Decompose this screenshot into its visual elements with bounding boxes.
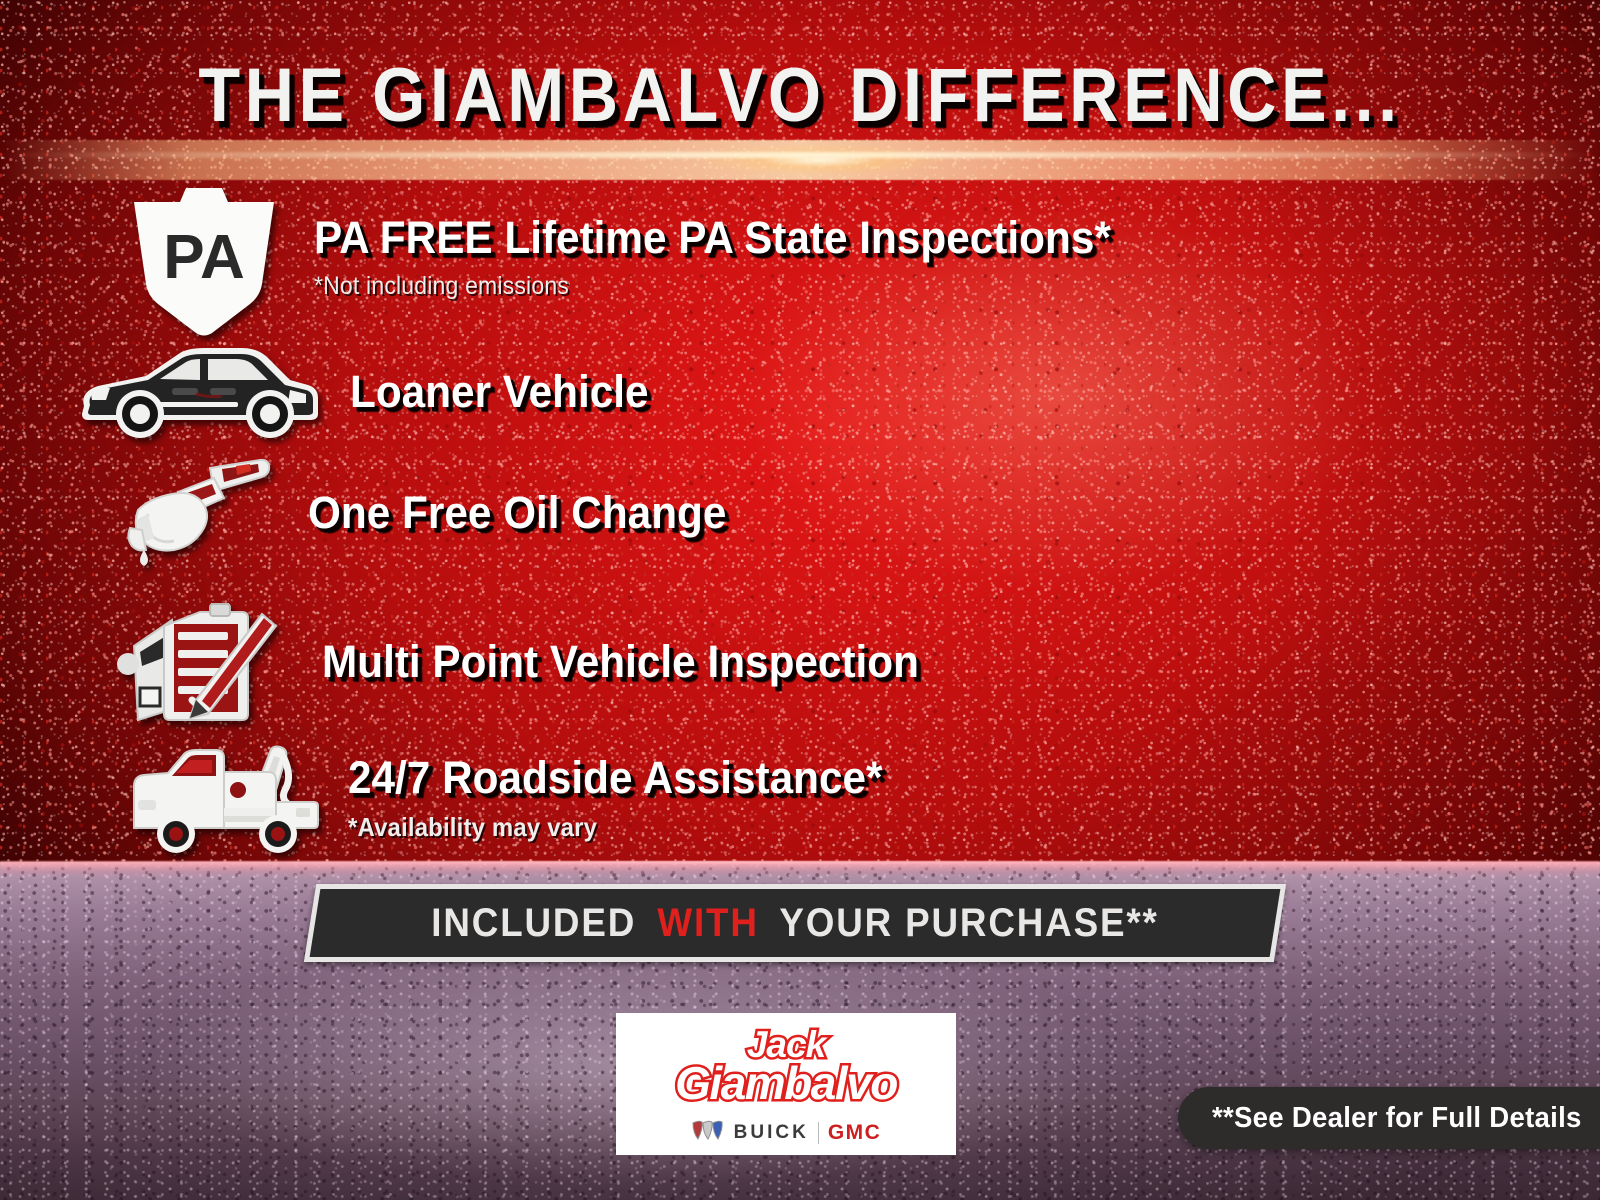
feature-row-oil-change: One Free Oil Change xyxy=(118,458,753,568)
included-with-purchase-banner: INCLUDED WITH YOUR PURCHASE** xyxy=(310,884,1280,962)
feature-note-state-inspections: *Not including emissions xyxy=(314,272,1094,301)
logo-text-giambalvo: Giambalvo xyxy=(616,1061,956,1106)
feature-note-roadside-assistance: *Availability may vary xyxy=(348,812,871,843)
oil-can-icon xyxy=(118,458,276,568)
feature-label-state-inspections: PA FREE Lifetime PA State Inspections* xyxy=(314,212,1111,264)
pa-keystone-icon: PA xyxy=(124,186,284,343)
advertisement-canvas: THE GIAMBALVO DIFFERENCE... PA PA FREE L… xyxy=(0,0,1600,1200)
gmc-wordmark: GMC xyxy=(828,1121,882,1145)
feature-label-multi-point-inspection: Multi Point Vehicle Inspection xyxy=(322,636,919,688)
page-title: THE GIAMBALVO DIFFERENCE... xyxy=(80,52,1520,139)
clipboard-checklist-icon xyxy=(116,596,294,728)
horizon-glow xyxy=(0,862,1600,878)
tow-truck-icon xyxy=(120,742,320,854)
feature-row-roadside-assistance: 24/7 Roadside Assistance* *Availability … xyxy=(120,742,917,854)
feature-label-roadside-assistance: 24/7 Roadside Assistance* xyxy=(348,752,882,804)
banner-text-highlight: WITH xyxy=(657,901,758,946)
buick-tri-shield-icon xyxy=(691,1119,725,1146)
brand-divider xyxy=(818,1122,819,1144)
disclaimer-pill: **See Dealer for Full Details xyxy=(1178,1087,1600,1149)
feature-label-loaner-vehicle: Loaner Vehicle xyxy=(350,366,649,418)
feature-row-loaner-vehicle: Loaner Vehicle xyxy=(76,344,668,440)
disclaimer-text: **See Dealer for Full Details xyxy=(1212,1102,1582,1135)
banner-text-part2: YOUR PURCHASE** xyxy=(768,901,1159,946)
car-icon xyxy=(76,344,322,440)
feature-row-multi-point-inspection: Multi Point Vehicle Inspection xyxy=(116,596,957,728)
brand-logos-row: BUICK GMC xyxy=(616,1119,956,1146)
pa-keystone-label: PA xyxy=(163,223,245,292)
banner-text-part1: INCLUDED xyxy=(431,901,648,946)
feature-label-oil-change: One Free Oil Change xyxy=(308,487,726,539)
dealer-logo-card: Jack Giambalvo BUICK GMC xyxy=(616,1013,956,1155)
banner-text: INCLUDED WITH YOUR PURCHASE** xyxy=(349,884,1241,962)
buick-wordmark: BUICK xyxy=(734,1122,809,1144)
lens-flare-core-line xyxy=(0,152,1600,158)
feature-row-state-inspections: PA PA FREE Lifetime PA State Inspections… xyxy=(124,186,1162,343)
